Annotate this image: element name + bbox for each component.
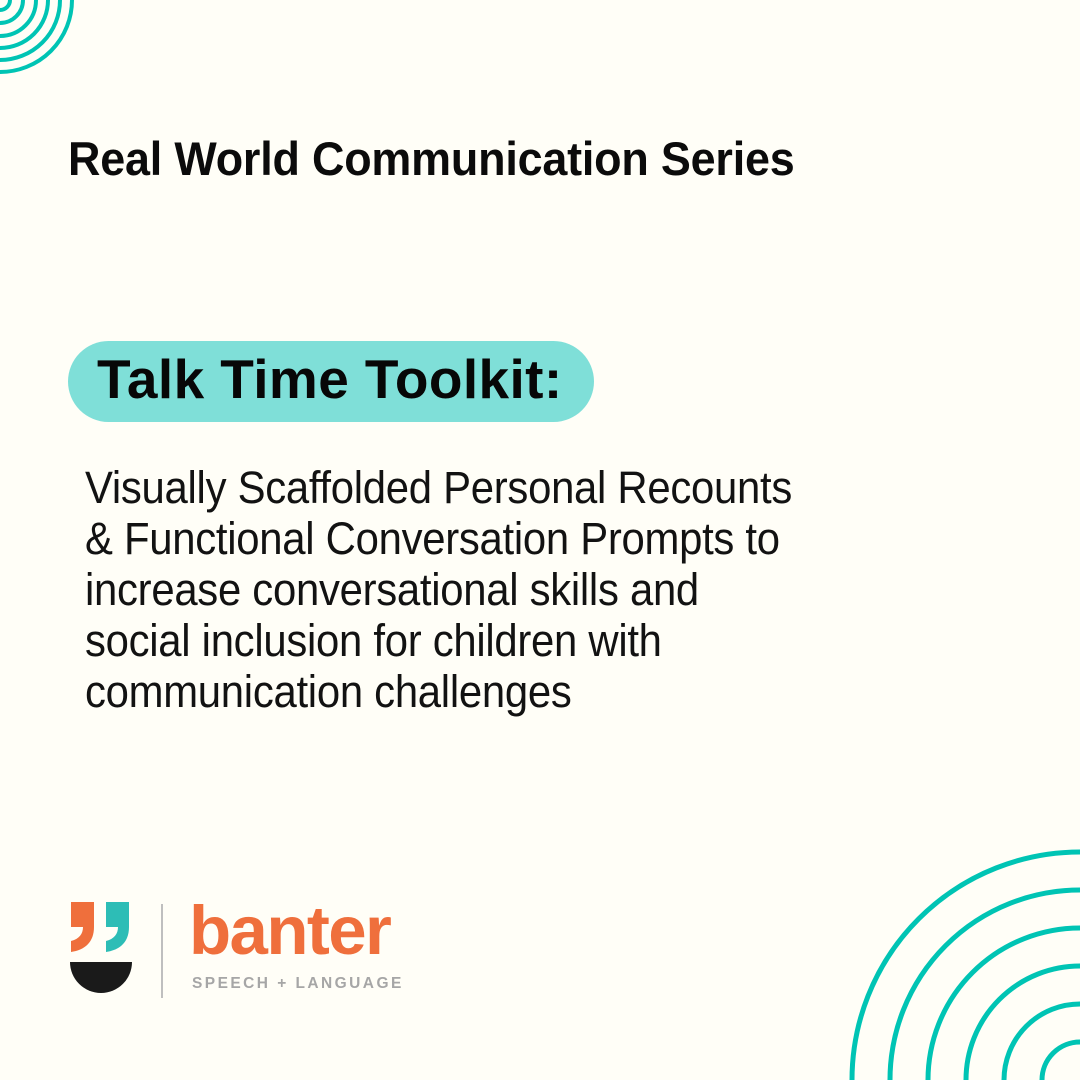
logo-text-block: banter SPEECH + LANGUAGE: [189, 900, 404, 993]
toolkit-title-label: Talk Time Toolkit:: [97, 352, 563, 407]
brand-tagline: SPEECH + LANGUAGE: [192, 975, 404, 993]
body-paragraph: Visually Scaffolded Personal Recounts & …: [85, 462, 965, 717]
brand-logo-lockup: banter SPEECH + LANGUAGE: [66, 900, 404, 998]
brand-wordmark: banter: [189, 896, 404, 965]
body-line: communication challenges: [85, 666, 903, 717]
body-line: increase conversational skills and: [85, 564, 903, 615]
body-line: & Functional Conversation Prompts to: [85, 513, 903, 564]
poster-canvas: Real World Communication Series Talk Tim…: [0, 0, 1080, 1080]
concentric-arcs-bottom-right-icon: [780, 780, 1080, 1080]
page-title: Real World Communication Series: [68, 129, 975, 189]
body-line: Visually Scaffolded Personal Recounts: [85, 462, 903, 513]
banter-quote-smile-mark-icon: [66, 900, 136, 998]
logo-divider: [161, 904, 163, 998]
body-line: social inclusion for children with: [85, 615, 903, 666]
concentric-arcs-top-left-icon: [0, 0, 230, 230]
toolkit-highlight-pill: Talk Time Toolkit:: [68, 341, 594, 422]
